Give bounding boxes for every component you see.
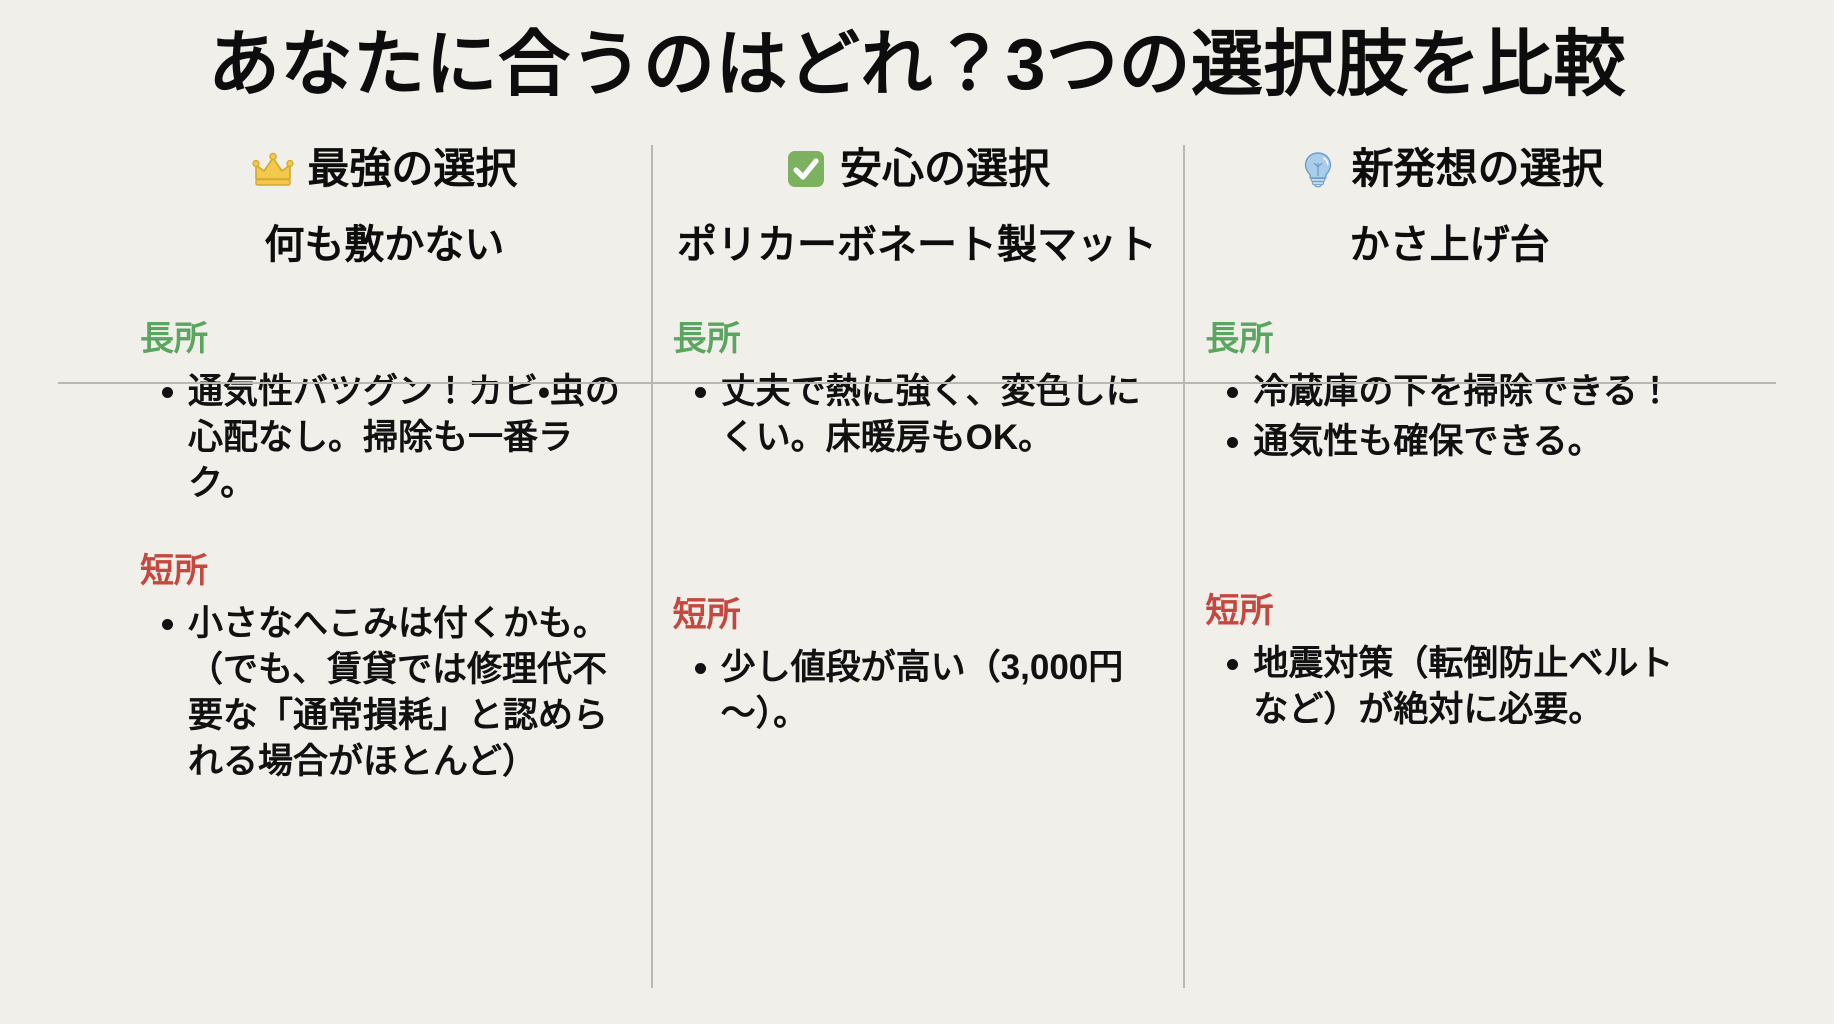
- column-1-cons-list: 小さなへこみは付くかも。（でも、賃貸では修理代不要な「通常損耗」と認められる場合…: [140, 601, 633, 786]
- column-1-header: 最強の選択 何も敷かない: [136, 111, 633, 295]
- comparison-table: 最強の選択 何も敷かない 長所 通気性バツグン！カビ・虫の心配なし。掃除も一番ラ…: [60, 111, 1774, 1024]
- list-item: 通気性も確保できる。: [1205, 419, 1698, 465]
- column-3-cons-list: 地震対策（転倒防止ベルトなど）が絶対に必要。: [1205, 641, 1698, 733]
- column-2-title-row: 安心の選択: [669, 145, 1166, 193]
- column-2-title: 安心の選択: [840, 145, 1050, 193]
- list-item: 小さなへこみは付くかも。（でも、賃貸では修理代不要な「通常損耗」と認められる場合…: [140, 601, 633, 786]
- column-1-pros-list: 通気性バツグン！カビ・虫の心配なし。掃除も一番ラク。: [140, 369, 633, 508]
- comparison-column-1: 最強の選択 何も敷かない 長所 通気性バツグン！カビ・虫の心配なし。掃除も一番ラ…: [118, 111, 651, 1024]
- column-2-cons-block: 短所 少し値段が高い（3,000円～）。: [673, 597, 1166, 737]
- column-1-title: 最強の選択: [307, 145, 517, 193]
- column-1-subtitle: 何も敷かない: [136, 221, 633, 269]
- column-3-cons-block: 短所 地震対策（転倒防止ベルトなど）が絶対に必要。: [1205, 593, 1698, 733]
- check-mark-button-icon: [784, 149, 828, 189]
- column-2-cons-list: 少し値段が高い（3,000円～）。: [673, 645, 1166, 737]
- column-3-pros-label: 長所: [1205, 321, 1698, 358]
- light-bulb-icon: [1296, 149, 1340, 189]
- column-3-title-row: 新発想の選択: [1201, 145, 1698, 193]
- list-item: 通気性バツグン！カビ・虫の心配なし。掃除も一番ラク。: [140, 369, 633, 508]
- comparison-slide: あなたに合うのはどれ？3つの選択肢を比較 最強の選択: [0, 0, 1834, 1024]
- crown-icon: [251, 149, 295, 189]
- column-3-cons-label: 短所: [1205, 593, 1698, 630]
- column-1-body: 長所 通気性バツグン！カビ・虫の心配なし。掃除も一番ラク。 短所 小さなへこみは…: [136, 295, 633, 789]
- column-3-title: 新発想の選択: [1352, 145, 1604, 193]
- comparison-column-3: 新発想の選択 かさ上げ台 長所 冷蔵庫の下を掃除できる！ 通気性も確保できる。 …: [1183, 111, 1716, 1024]
- column-3-subtitle: かさ上げ台: [1201, 221, 1698, 269]
- page-title: あなたに合うのはどれ？3つの選択肢を比較: [60, 26, 1774, 105]
- column-3-body: 長所 冷蔵庫の下を掃除できる！ 通気性も確保できる。 短所 地震対策（転倒防止ベ…: [1201, 295, 1698, 737]
- column-2-cons-label: 短所: [673, 597, 1166, 634]
- header-divider: [58, 382, 1776, 384]
- column-2-header: 安心の選択 ポリカーボネート製マット: [669, 111, 1166, 295]
- list-item: 地震対策（転倒防止ベルトなど）が絶対に必要。: [1205, 641, 1698, 733]
- list-item: 少し値段が高い（3,000円～）。: [673, 645, 1166, 737]
- column-2-body: 長所 丈夫で熱に強く、変色しにくい。床暖房もOK。 短所 少し値段が高い（3,0…: [669, 295, 1166, 741]
- column-1-title-row: 最強の選択: [136, 145, 633, 193]
- column-2-pros-label: 長所: [673, 321, 1166, 358]
- list-item: 冷蔵庫の下を掃除できる！: [1205, 369, 1698, 415]
- comparison-column-2: 安心の選択 ポリカーボネート製マット 長所 丈夫で熱に強く、変色しにくい。床暖房…: [651, 111, 1184, 1024]
- column-1-cons-block: 短所 小さなへこみは付くかも。（でも、賃貸では修理代不要な「通常損耗」と認められ…: [140, 553, 633, 785]
- column-2-subtitle: ポリカーボネート製マット: [669, 221, 1166, 269]
- column-3-header: 新発想の選択 かさ上げ台: [1201, 111, 1698, 295]
- column-1-pros-label: 長所: [140, 321, 633, 358]
- column-1-cons-label: 短所: [140, 553, 633, 590]
